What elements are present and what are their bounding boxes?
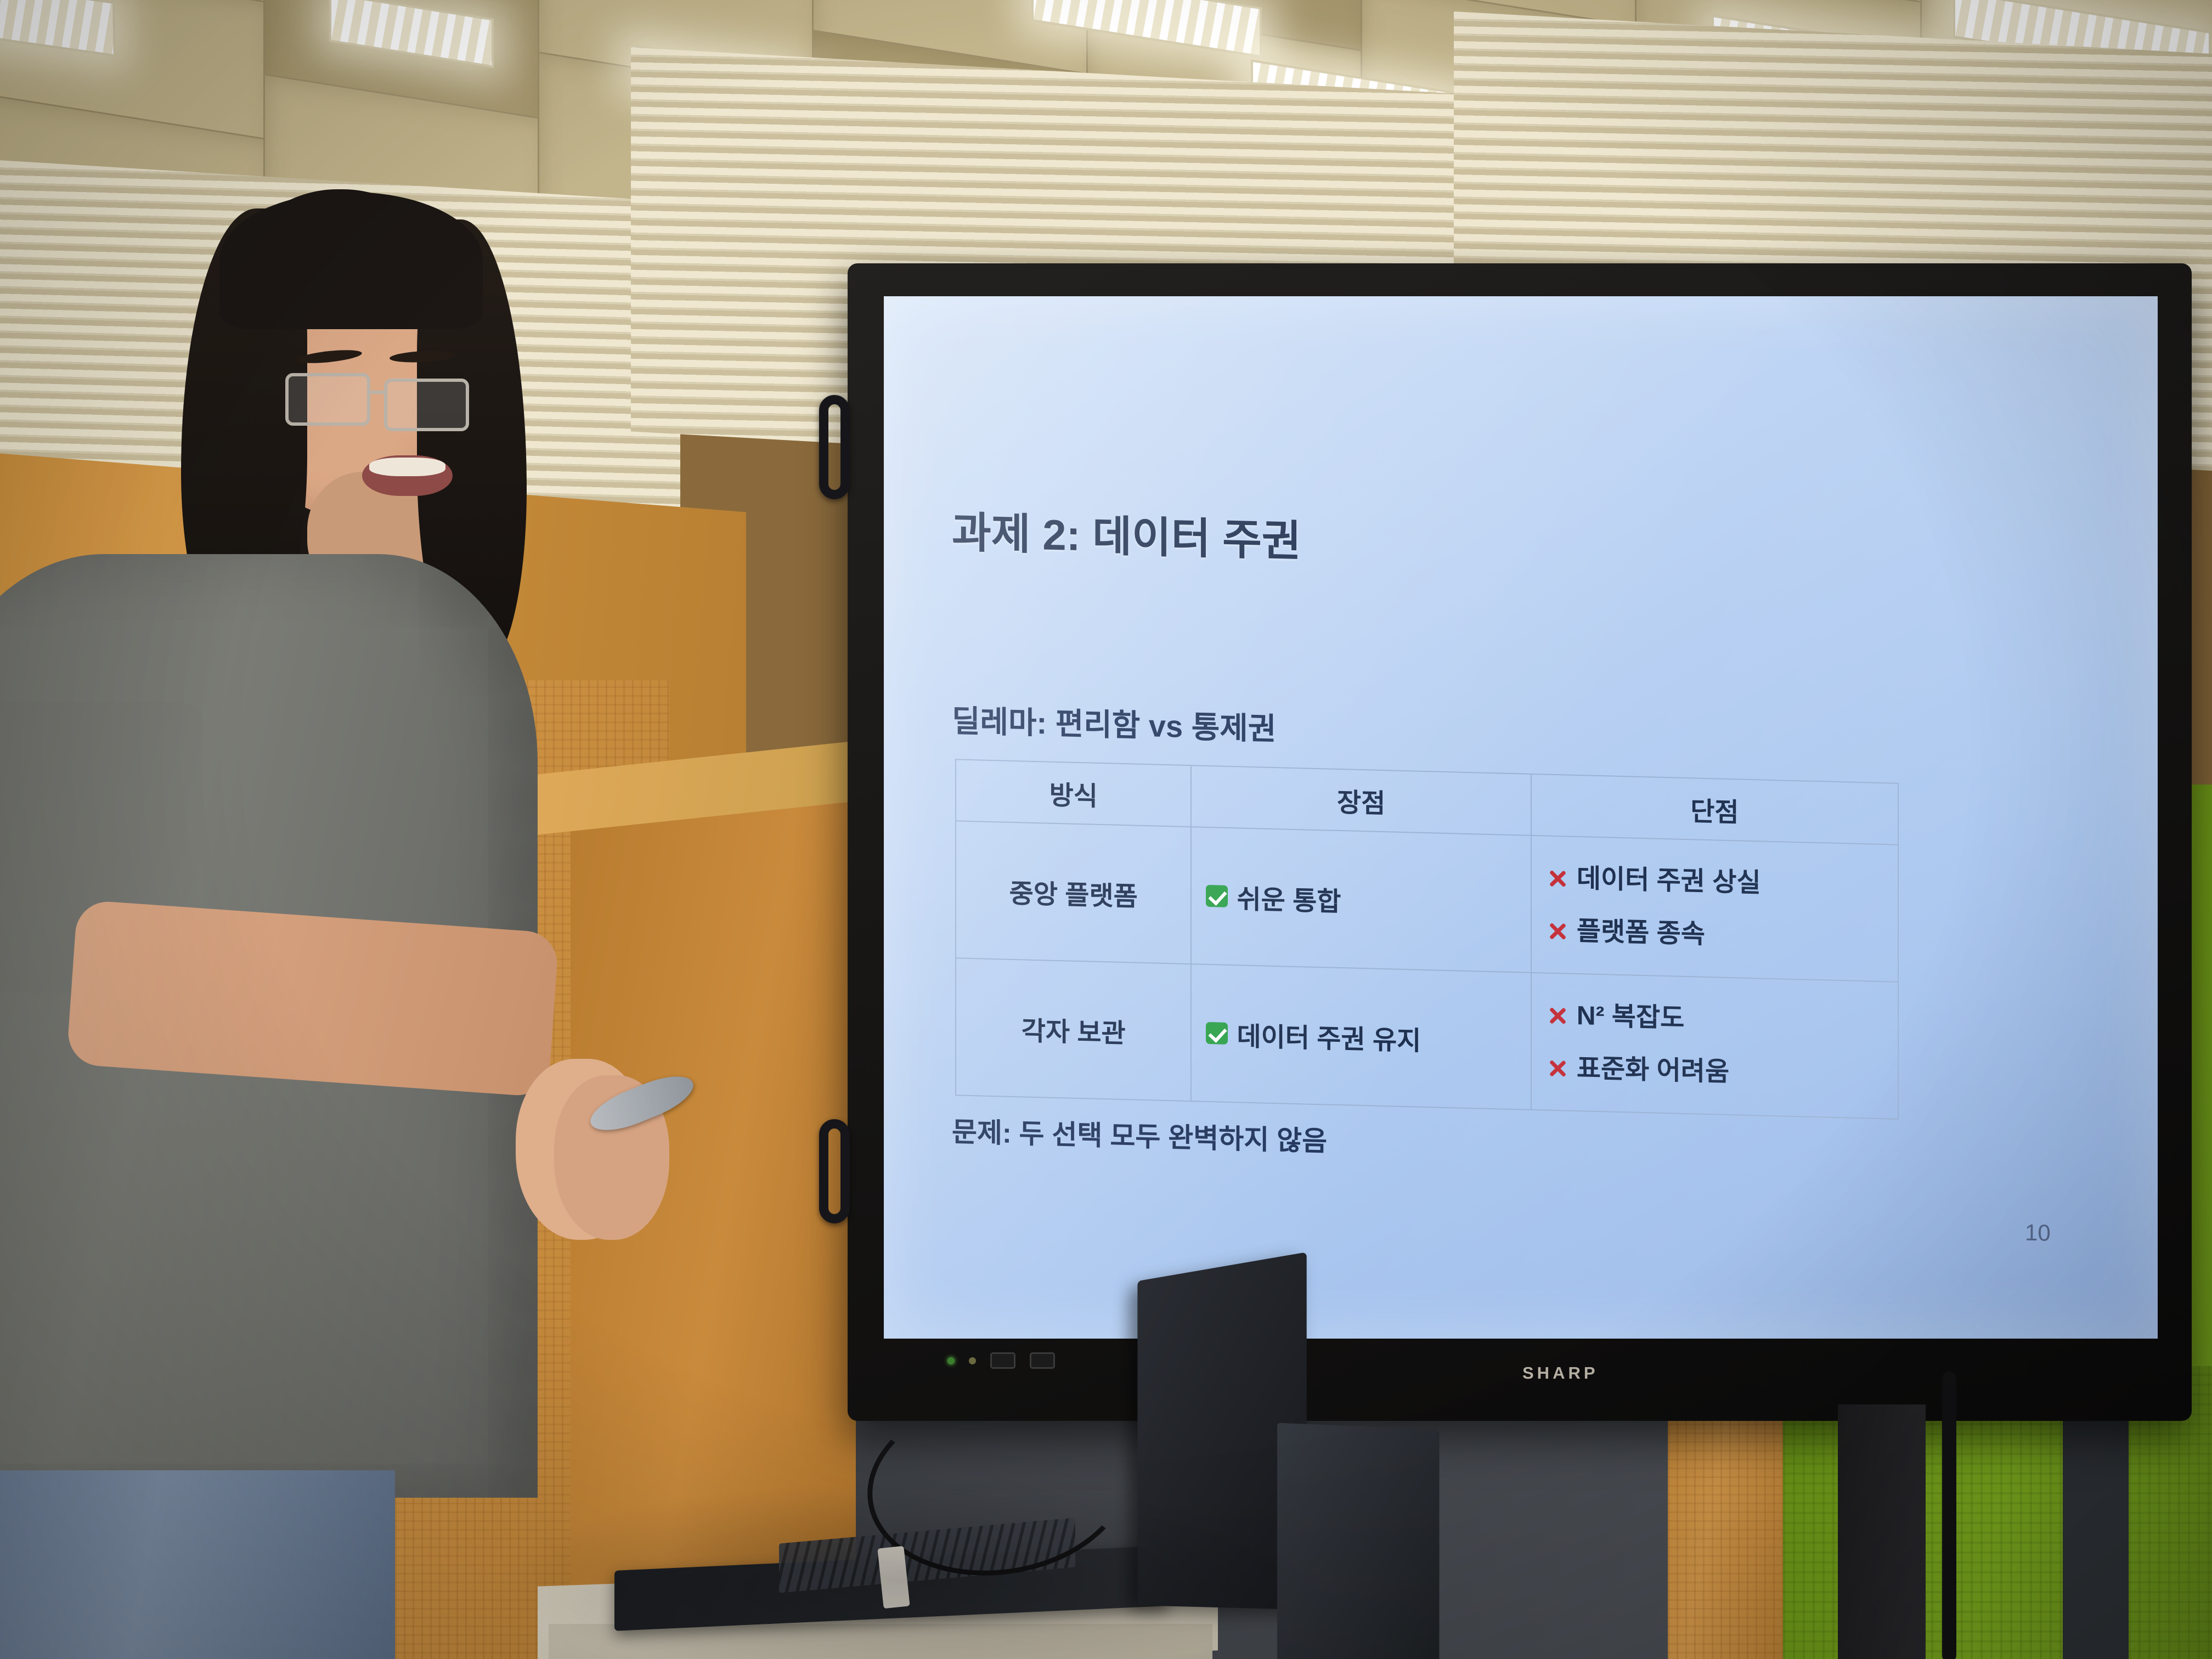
cell-method: 각자 보관 bbox=[956, 958, 1191, 1101]
display-handle-bottom-left[interactable] bbox=[819, 1119, 850, 1223]
cell-pros: 데이터 주권 유지 bbox=[1191, 964, 1531, 1110]
jeans bbox=[0, 1470, 395, 1659]
laptop-screen-back bbox=[1277, 1423, 1440, 1659]
table-row: 각자 보관 데이터 주권 유지 N² 복잡도 bbox=[956, 958, 1898, 1119]
eyeglasses-bridge bbox=[369, 391, 387, 394]
display-status-leds bbox=[947, 1352, 1055, 1369]
con-text: 표준화 어려움 bbox=[1577, 1048, 1729, 1093]
cross-icon bbox=[1546, 1004, 1568, 1026]
hair-top bbox=[219, 192, 483, 329]
sharp-interactive-display[interactable]: 과제 2: 데이터 주권 딜레마: 편리함 vs 통제권 방식 장점 단점 중앙… bbox=[848, 263, 2192, 1421]
presentation-slide: 과제 2: 데이터 주권 딜레마: 편리함 vs 통제권 방식 장점 단점 중앙… bbox=[884, 296, 2158, 1339]
cell-cons: N² 복잡도 표준화 어려움 bbox=[1531, 973, 1898, 1119]
photo-scene: 과제 2: 데이터 주권 딜레마: 편리함 vs 통제권 방식 장점 단점 중앙… bbox=[0, 0, 2212, 1659]
display-stand-column bbox=[1838, 1404, 1926, 1659]
menu-button[interactable] bbox=[1030, 1352, 1055, 1369]
con-text: 플랫폼 종속 bbox=[1577, 911, 1705, 955]
slide-title: 과제 2: 데이터 주권 bbox=[952, 498, 1301, 568]
check-icon bbox=[1206, 1022, 1228, 1045]
slide-page-number: 10 bbox=[2025, 1220, 2051, 1246]
check-icon bbox=[1206, 885, 1228, 907]
pro-text: 쉬운 통합 bbox=[1237, 877, 1341, 918]
display-stand-cable bbox=[1942, 1372, 1956, 1659]
cell-method: 중앙 플랫폼 bbox=[956, 821, 1191, 964]
input-button[interactable] bbox=[990, 1352, 1015, 1369]
cell-cons: 데이터 주권 상실 플랫폼 종속 bbox=[1531, 836, 1898, 982]
presenter bbox=[0, 0, 713, 1659]
teeth bbox=[369, 458, 445, 476]
display-handle-top-left[interactable] bbox=[819, 395, 850, 499]
cell-pros: 쉬운 통합 bbox=[1191, 827, 1531, 973]
power-led bbox=[947, 1357, 955, 1364]
slide-subtitle: 딜레마: 편리함 vs 통제권 bbox=[952, 696, 1276, 749]
display-screen[interactable]: 과제 2: 데이터 주권 딜레마: 편리함 vs 통제권 방식 장점 단점 중앙… bbox=[884, 296, 2158, 1339]
column-header-cons: 단점 bbox=[1531, 774, 1898, 845]
eyeglasses-right-lens bbox=[384, 379, 469, 431]
eyeglasses-left-lens bbox=[285, 373, 370, 426]
pro-text: 데이터 주권 유지 bbox=[1237, 1014, 1421, 1057]
cross-icon bbox=[1546, 867, 1568, 889]
mouth bbox=[362, 455, 453, 496]
forearm bbox=[66, 900, 560, 1098]
comparison-table: 방식 장점 단점 중앙 플랫폼 쉬운 통합 bbox=[955, 759, 1899, 1120]
sharp-logo: SHARP bbox=[1522, 1363, 1599, 1383]
column-header-method: 방식 bbox=[956, 759, 1191, 827]
con-text: 데이터 주권 상실 bbox=[1577, 859, 1761, 904]
cross-icon bbox=[1546, 1057, 1568, 1080]
column-header-pros: 장점 bbox=[1191, 765, 1531, 836]
slide-footer-note: 문제: 두 선택 모두 완벽하지 않음 bbox=[952, 1110, 1327, 1159]
table-row: 중앙 플랫폼 쉬운 통합 데이터 주권 상실 bbox=[956, 821, 1898, 981]
con-text: N² 복잡도 bbox=[1577, 996, 1684, 1039]
status-led bbox=[969, 1357, 976, 1364]
cross-icon bbox=[1546, 920, 1568, 943]
